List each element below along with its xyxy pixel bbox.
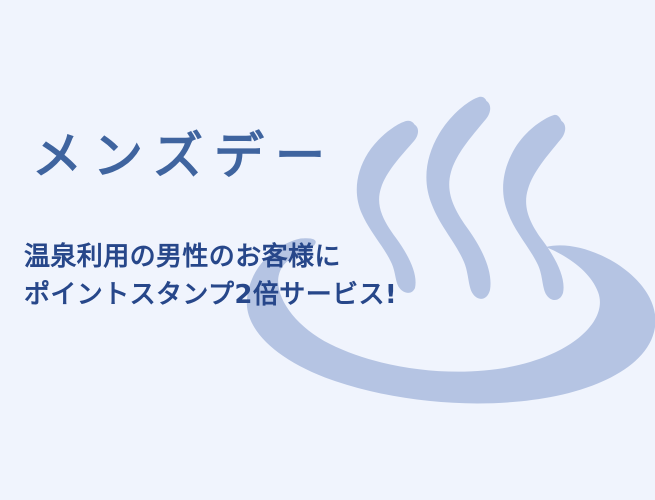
subhead-line-1: 温泉利用の男性のお客様に <box>24 238 397 276</box>
banner-headline: メンズデー <box>32 128 336 186</box>
banner-text-block: メンズデー 温泉利用の男性のお客様に ポイントスタンプ2倍サービス! <box>0 0 655 500</box>
banner-subhead: 温泉利用の男性のお客様に ポイントスタンプ2倍サービス! <box>24 238 397 314</box>
onsen-mens-day-banner: メンズデー 温泉利用の男性のお客様に ポイントスタンプ2倍サービス! <box>0 0 655 500</box>
subhead-line-2: ポイントスタンプ2倍サービス! <box>24 276 397 314</box>
